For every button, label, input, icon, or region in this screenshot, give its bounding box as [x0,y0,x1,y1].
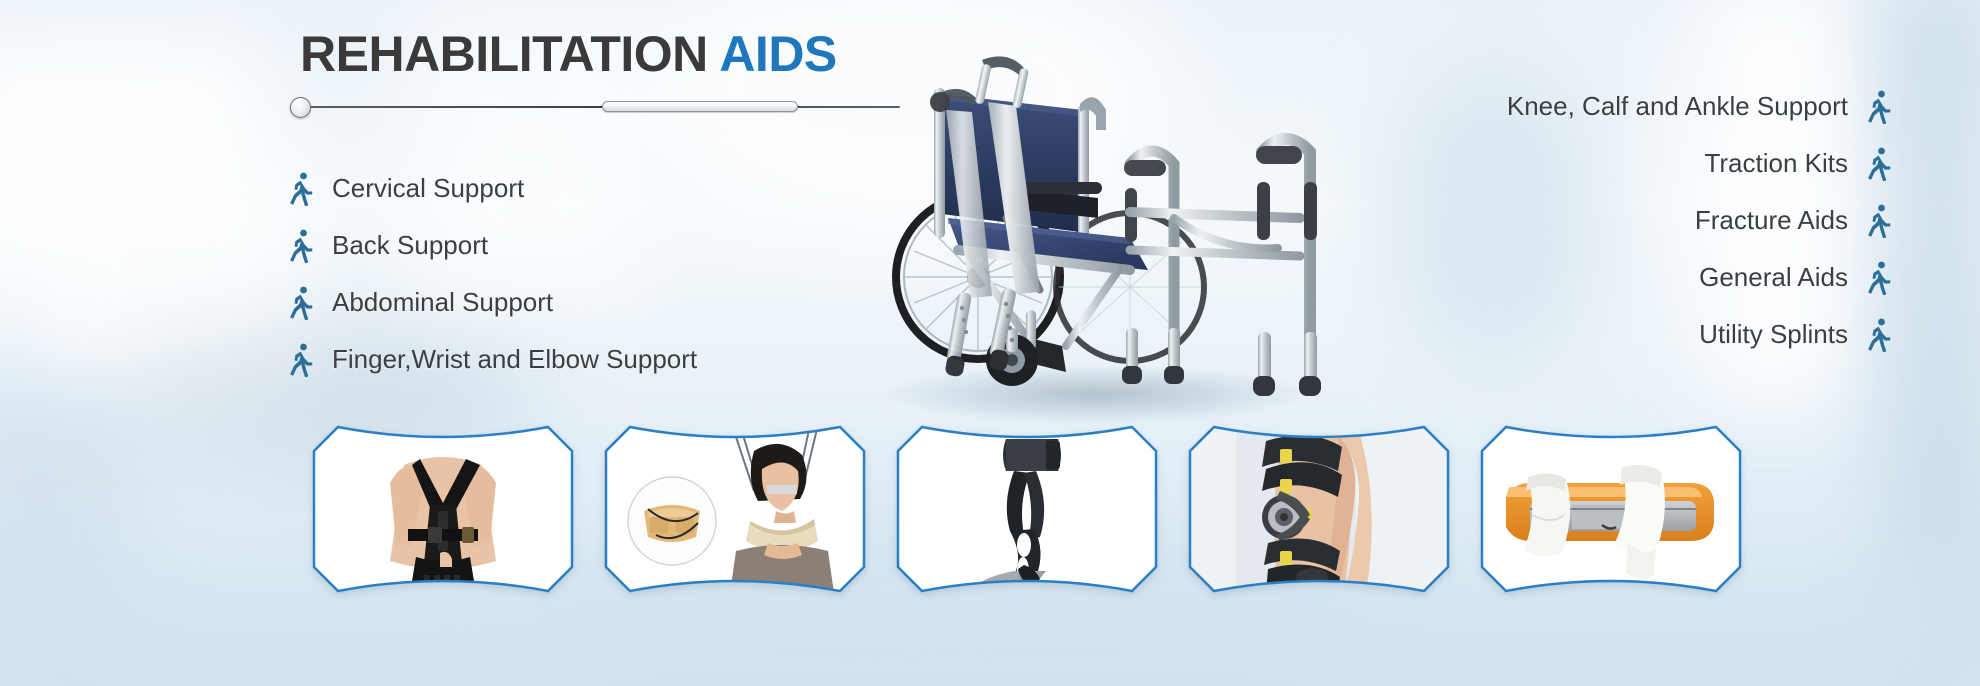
feature-label: Traction Kits [1704,148,1848,179]
product-card[interactable]: Black posture back support brace worn on… [312,425,574,593]
feature-label: Abdominal Support [332,287,553,318]
slider-rule-bar [602,101,798,112]
running-person-icon [288,229,314,263]
product-card-row: Black posture back support brace worn on… [312,425,1742,593]
card-frame [1188,425,1450,593]
page-title: REHABILITATION AIDS [300,28,920,81]
running-person-icon [288,343,314,377]
running-person-icon [1866,147,1892,181]
running-person-icon [1866,90,1892,124]
card-frame [896,425,1158,593]
feature-item[interactable]: Fracture Aids [1507,192,1892,249]
running-person-icon [1866,261,1892,295]
banner-title-block: REHABILITATION AIDS [300,28,920,81]
feature-item[interactable]: Utility Splints [1507,306,1892,363]
product-card[interactable]: Black ankle foot orthosis foot-drop spli… [896,425,1158,593]
feature-label: Knee, Calf and Ankle Support [1507,91,1848,122]
feature-item[interactable]: Abdominal Support [288,274,697,331]
page-title-primary: REHABILITATION [300,26,708,82]
traction-weight-pad [644,505,700,542]
running-person-icon [1866,204,1892,238]
product-card[interactable]: Woman wearing beige cervical collar with… [604,425,866,593]
running-person-icon [1866,318,1892,352]
feature-item[interactable]: Back Support [288,217,697,274]
feature-label: Utility Splints [1699,319,1848,350]
feature-item[interactable]: Cervical Support [288,160,697,217]
feature-list-right: Knee, Calf and Ankle Support Traction Ki… [1507,78,1892,363]
feature-label: Finger,Wrist and Elbow Support [332,344,697,375]
slider-rule [290,96,910,118]
feature-item[interactable]: General Aids [1507,249,1892,306]
feature-item[interactable]: Finger,Wrist and Elbow Support [288,331,697,388]
feature-item[interactable]: Traction Kits [1507,135,1892,192]
product-card[interactable]: Black hinged knee brace with yellow adju… [1188,425,1450,593]
feature-list-left: Cervical Support Back Support Abdominal … [288,160,697,388]
feature-label: General Aids [1699,262,1848,293]
wheelchair [896,88,1204,386]
feature-item[interactable]: Knee, Calf and Ankle Support [1507,78,1892,135]
feature-label: Fracture Aids [1695,205,1848,236]
hero-equipment-illustration [830,42,1360,442]
running-person-icon [288,172,314,206]
feature-label: Back Support [332,230,488,261]
page-title-accent: AIDS [719,26,836,82]
product-card[interactable]: Orange aluminium finger splint with whit… [1480,425,1742,593]
card-frame [312,425,574,593]
hero-equipment-image [830,42,1360,442]
slider-rule-knob[interactable] [290,97,311,118]
card-frame [1480,425,1742,593]
running-person-icon [288,286,314,320]
card-frame [604,425,866,593]
feature-label: Cervical Support [332,173,524,204]
